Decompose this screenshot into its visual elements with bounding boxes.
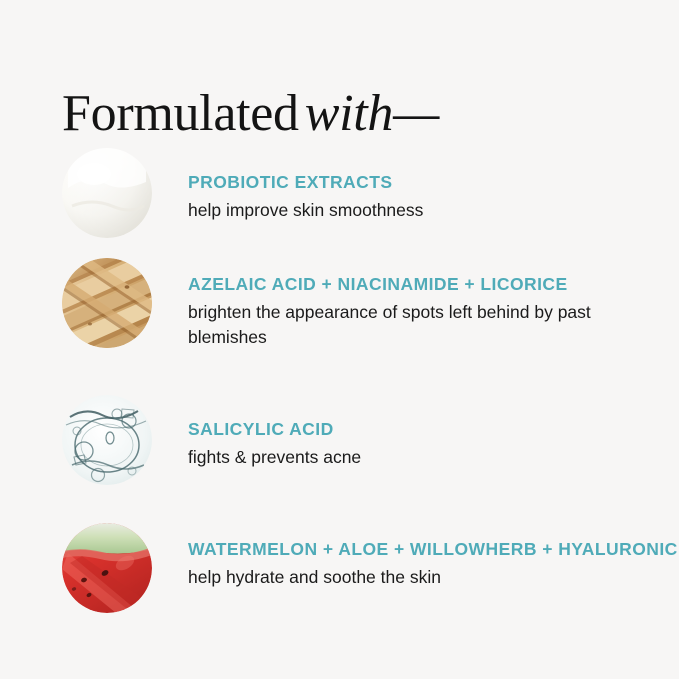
list-item: WATERMELON + ALOE + WILLOWHERB + HYALURO… [62, 523, 662, 613]
ingredient-description: help hydrate and soothe the skin [188, 565, 618, 591]
list-item-text: AZELAIC ACID + NIACINAMIDE + LICORICE br… [188, 258, 618, 351]
ingredient-name: SALICYLIC ACID [188, 417, 361, 442]
clear-gel-bubbles-thumbnail [62, 395, 152, 485]
list-item: SALICYLIC ACID fights & prevents acne [62, 395, 662, 485]
page-title: Formulatedwith— [62, 87, 439, 142]
formulated-with-panel: Formulatedwith— [0, 0, 679, 679]
page-title-italic: with— [305, 85, 439, 142]
list-item: AZELAIC ACID + NIACINAMIDE + LICORICE br… [62, 258, 662, 351]
ingredient-name: WATERMELON + ALOE + WILLOWHERB + HYALURO… [188, 537, 679, 562]
ingredient-name: PROBIOTIC EXTRACTS [188, 170, 423, 195]
list-item-text: PROBIOTIC EXTRACTS help improve skin smo… [188, 148, 423, 223]
list-item-text: WATERMELON + ALOE + WILLOWHERB + HYALURO… [188, 523, 679, 590]
licorice-root-thumbnail [62, 258, 152, 348]
ingredient-description: brighten the appearance of spots left be… [188, 300, 618, 351]
watermelon-slice-thumbnail [62, 523, 152, 613]
list-item-text: SALICYLIC ACID fights & prevents acne [188, 395, 361, 470]
page-title-roman: Formulated [62, 85, 299, 142]
ingredient-description: fights & prevents acne [188, 445, 361, 471]
list-item: PROBIOTIC EXTRACTS help improve skin smo… [62, 148, 662, 238]
cream-dollop-thumbnail [62, 148, 152, 238]
ingredient-description: help improve skin smoothness [188, 198, 423, 224]
ingredient-name: AZELAIC ACID + NIACINAMIDE + LICORICE [188, 272, 618, 297]
